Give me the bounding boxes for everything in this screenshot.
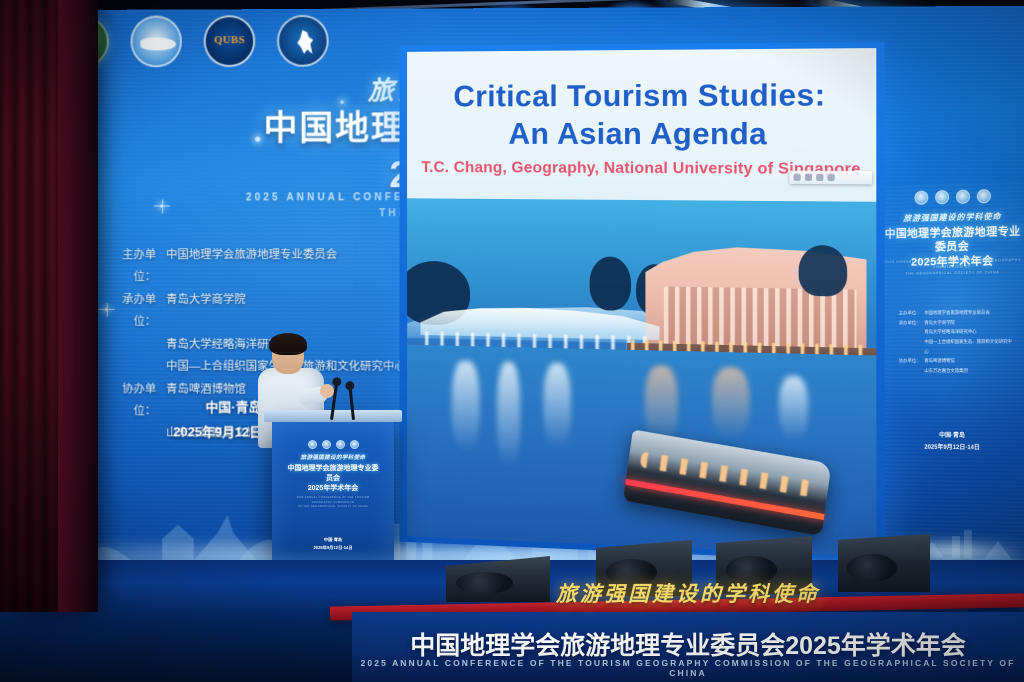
organizer-value: 青岛大学商学院 [924, 318, 954, 328]
organizer-key: 承办单位： [895, 318, 920, 328]
stage-front-banner: 中国地理学会旅游地理专业委员会2025年学术年会 2025 ANNUAL CON… [352, 612, 1024, 682]
organizer-key [105, 333, 156, 355]
organizer-row: 中国—上合组织国家生态、旅游和文化研究中心 [895, 337, 1014, 357]
organizer-row: 山东万达嘉合文旅集团 [895, 366, 1014, 376]
stage-curtain-left [0, 0, 92, 612]
right-panel-date: 2025年9月12日-14日 [881, 441, 1024, 454]
organizer-row: 协办单位： 青岛啤酒博物馆 [895, 356, 1014, 366]
podium-year-line: 2025年学术年会 [286, 484, 380, 494]
presenter-hand [320, 384, 334, 398]
organizer-value: 青岛啤酒博物馆 [924, 356, 954, 366]
podium-place: 中国·青岛 [286, 536, 380, 544]
toolbar-icon[interactable] [794, 174, 801, 181]
right-panel-title-line: 中国地理学会旅游地理专业委员会 [881, 225, 1024, 256]
podium-english: 2025 ANNUAL CONFERENCE OF THE TOURISM GE… [286, 496, 380, 509]
organizer-key [895, 328, 920, 338]
banner-english-subtitle: 2025 ANNUAL CONFERENCE OF THE TOURISM GE… [352, 658, 1024, 678]
slide-title-line-2: An Asian Agenda [407, 116, 876, 153]
podium-english-line-2: OF THE GEOGRAPHICAL SOCIETY OF CHINA [286, 505, 380, 509]
toolbar-icon[interactable] [805, 174, 812, 181]
banner-slogan: 旅游强国建设的学科使命 [352, 578, 1024, 608]
toolbar-icon[interactable] [828, 174, 835, 181]
geographical-society-of-china-logo [914, 191, 928, 205]
podium-title: 中国地理学会旅游地理专业委员会 2025年学术年会 [286, 464, 380, 493]
right-panel-logo-row [881, 188, 1024, 205]
organizer-value: 中国—上合组织国家生态、旅游和文化研究中心 [924, 337, 1014, 357]
podium-english-line-1: 2025 ANNUAL CONFERENCE OF THE TOURISM GE… [286, 496, 380, 505]
organizer-key [895, 366, 920, 376]
qubs-logo [955, 190, 969, 204]
organizer-key: 主办单位： [105, 244, 156, 289]
podium-logo-row [286, 440, 380, 449]
slide-title-line-1: Critical Tourism Studies: [407, 77, 876, 115]
organizer-key: 承办单位： [105, 289, 156, 334]
podium-title-line: 中国地理学会旅游地理专业委员会 [286, 464, 380, 484]
podium: 旅游强国建设的学科使命 中国地理学会旅游地理专业委员会 2025年学术年会 20… [272, 418, 394, 566]
right-panel-place-date: 中国·青岛 2025年9月12日-14日 [881, 429, 1024, 454]
qubs-logo [204, 15, 256, 67]
organizer-value: 青岛大学经略海洋研究中心 [924, 327, 976, 337]
organizer-key [105, 356, 156, 378]
qingdao-university-logo [322, 440, 331, 449]
right-panel-english: 2025 ANNUAL CONFERENCE OF THE TOURISM GE… [881, 257, 1024, 277]
right-panel-slogan: 旅游强国建设的学科使命 [881, 210, 1024, 224]
right-panel-english-line-2: THE GEOGRAPHICAL SOCIETY OF CHINA [881, 269, 1024, 277]
screen-content: Critical Tourism Studies: An Asian Agend… [407, 48, 876, 556]
presentation-toolbar[interactable] [789, 171, 872, 185]
presentation-screen[interactable]: Critical Tourism Studies: An Asian Agend… [400, 42, 885, 563]
podium-slogan: 旅游强国建设的学科使命 [286, 453, 380, 461]
glasses-icon [275, 352, 302, 359]
toolbar-icon[interactable] [816, 174, 823, 181]
partner-horse-logo [277, 15, 329, 67]
organizer-key [895, 337, 920, 356]
qingdao-university-logo [935, 190, 949, 204]
organizer-row: 青岛大学经略海洋研究中心 [895, 327, 1014, 337]
slide-photo-singapore-river [407, 198, 876, 556]
stage-scene: 旅游强国建设的学科使命 中国地理学会旅游地理专业委员会 2025年学术年会 20… [0, 0, 1024, 682]
right-backdrop-panel: 旅游强国建设的学科使命 中国地理学会旅游地理专业委员会 2025年学术年会 20… [881, 180, 1024, 572]
organizer-key: 主办单位： [895, 308, 920, 318]
banner-title: 中国地理学会旅游地理专业委员会2025年学术年会 [352, 626, 1024, 662]
partner-horse-logo [350, 440, 359, 449]
partner-horse-logo [976, 189, 990, 203]
organizer-value: 山东万达嘉合文旅集团 [924, 366, 968, 376]
geographical-society-of-china-logo [308, 440, 317, 449]
organizer-value: 中国地理学会旅游地理专业委员会 [924, 308, 989, 318]
organizer-key: 协办单位： [895, 357, 920, 367]
right-panel-organizer-list: 主办单位： 中国地理学会旅游地理专业委员会 承办单位： 青岛大学商学院 青岛大学… [895, 307, 1014, 375]
podium-place-date: 中国·青岛 2025年9月12日-14日 [286, 536, 380, 552]
qubs-logo [336, 440, 345, 449]
qingdao-university-logo [131, 15, 182, 67]
podium-branding-panel: 旅游强国建设的学科使命 中国地理学会旅游地理专业委员会 2025年学术年会 20… [286, 440, 380, 552]
podium-date: 2025年9月12日-14日 [286, 544, 380, 552]
